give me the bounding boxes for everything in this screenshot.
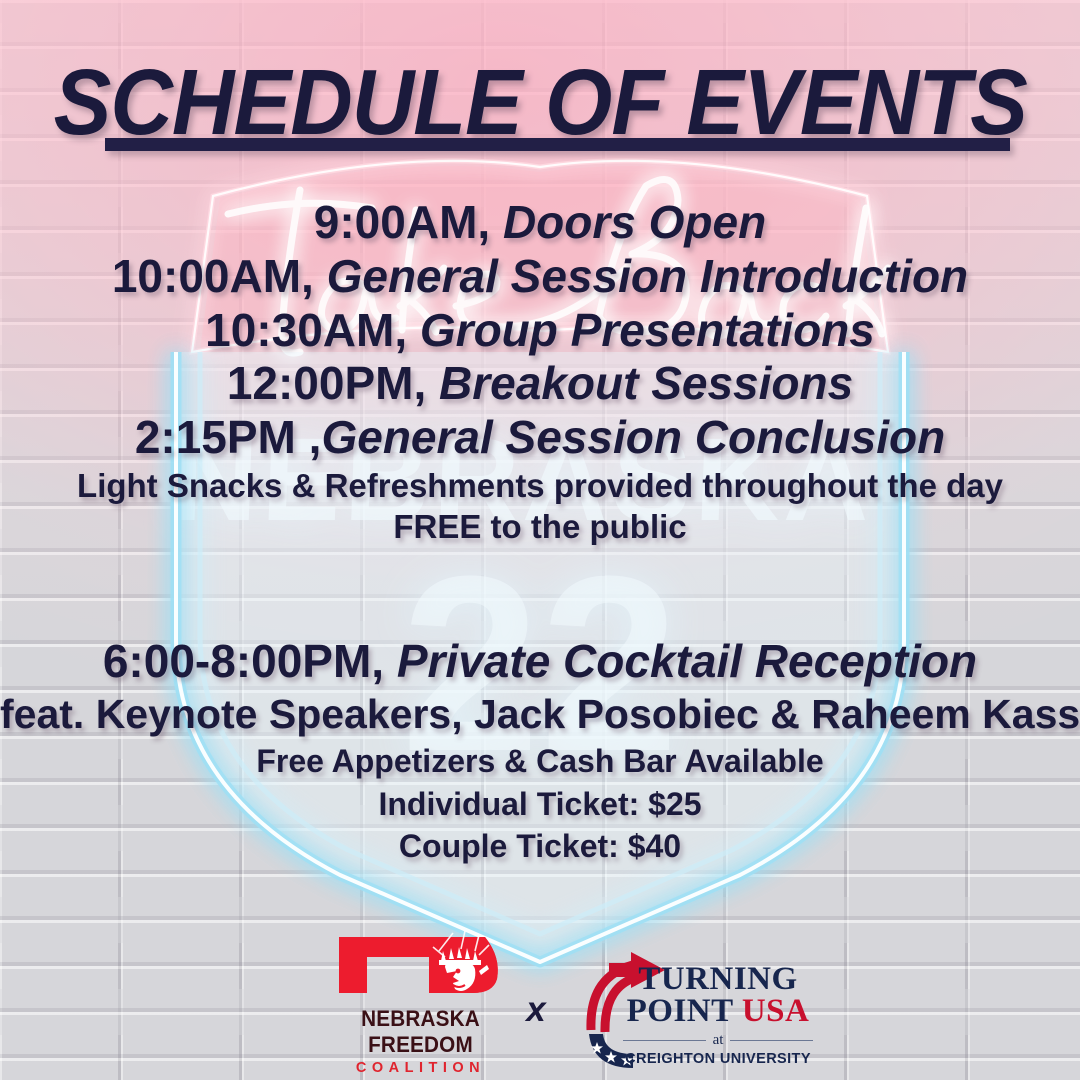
reception-time: 6:00-8:00PM, (103, 635, 384, 687)
tpusa-wordmark: TURNING POINT USA at CREIGHTON UNIVERSIT… (623, 964, 813, 1067)
tpusa-rule-right (730, 1040, 813, 1041)
schedule-event: Doors Open (490, 196, 766, 248)
turning-point-usa-logo: TURNING POINT USA at CREIGHTON UNIVERSIT… (575, 950, 815, 1068)
tpusa-rule-left (623, 1040, 706, 1041)
footer-logos: NEBRASKA FREEDOM COALITION x (0, 930, 1080, 1080)
schedule-row: 9:00AM, Doors Open (0, 196, 1080, 250)
nebraska-liberty-icon (333, 927, 508, 1005)
nfc-name: NEBRASKA FREEDOM (326, 1006, 515, 1058)
schedule-list: 9:00AM, Doors Open 10:00AM, General Sess… (0, 196, 1080, 548)
poster-content: SCHEDULE OF EVENTS 9:00AM, Doors Open 10… (0, 0, 1080, 1080)
logo-separator-x: x (516, 990, 556, 1030)
reception-detail: Couple Ticket: $40 (0, 825, 1080, 867)
page-title: SCHEDULE OF EVENTS (53, 56, 1026, 149)
nfc-subtitle: COALITION (318, 1060, 523, 1076)
reception-speakers: feat. Keynote Speakers, Jack Posobiec & … (0, 689, 1080, 740)
tpusa-chapter: CREIGHTON UNIVERSITY (623, 1051, 813, 1067)
schedule-time: 10:30AM, (205, 304, 407, 356)
schedule-row: 10:00AM, General Session Introduction (0, 250, 1080, 304)
schedule-event: General Session Conclusion (321, 411, 945, 463)
tpusa-usa: USA (742, 993, 810, 1029)
title-block: SCHEDULE OF EVENTS (0, 56, 1080, 149)
tpusa-line-1: TURNING (623, 964, 813, 995)
schedule-time: 10:00AM, (112, 250, 314, 302)
reception-event: Private Cocktail Reception (384, 635, 977, 687)
tpusa-at-row: at (623, 1032, 813, 1049)
schedule-row: 12:00PM, Breakout Sessions (0, 357, 1080, 411)
schedule-note: FREE to the public (0, 506, 1080, 547)
schedule-event: Breakout Sessions (426, 357, 853, 409)
reception-detail: Individual Ticket: $25 (0, 783, 1080, 825)
schedule-event: Group Presentations (407, 304, 875, 356)
schedule-time: 2:15PM , (135, 411, 322, 463)
schedule-note: Light Snacks & Refreshments provided thr… (0, 465, 1080, 506)
schedule-row: 10:30AM, Group Presentations (0, 304, 1080, 358)
reception-detail: Free Appetizers & Cash Bar Available (0, 740, 1080, 782)
nebraska-freedom-coalition-logo: NEBRASKA FREEDOM COALITION (318, 927, 523, 1076)
schedule-time: 12:00PM, (227, 357, 426, 409)
schedule-time: 9:00AM, (314, 196, 490, 248)
schedule-row: 2:15PM ,General Session Conclusion (0, 411, 1080, 465)
tpusa-line-2: POINT USA (623, 995, 813, 1028)
title-underline-rule (105, 138, 1010, 151)
tpusa-at-label: at (713, 1032, 724, 1049)
reception-headline: 6:00-8:00PM, Private Cocktail Reception (0, 634, 1080, 689)
reception-block: 6:00-8:00PM, Private Cocktail Reception … (0, 634, 1080, 867)
schedule-event: General Session Introduction (314, 250, 968, 302)
tpusa-point: POINT (627, 993, 742, 1029)
poster-canvas: NEBRASKA NEBRASKA 22 22 SCHEDULE OF EVEN… (0, 0, 1080, 1080)
